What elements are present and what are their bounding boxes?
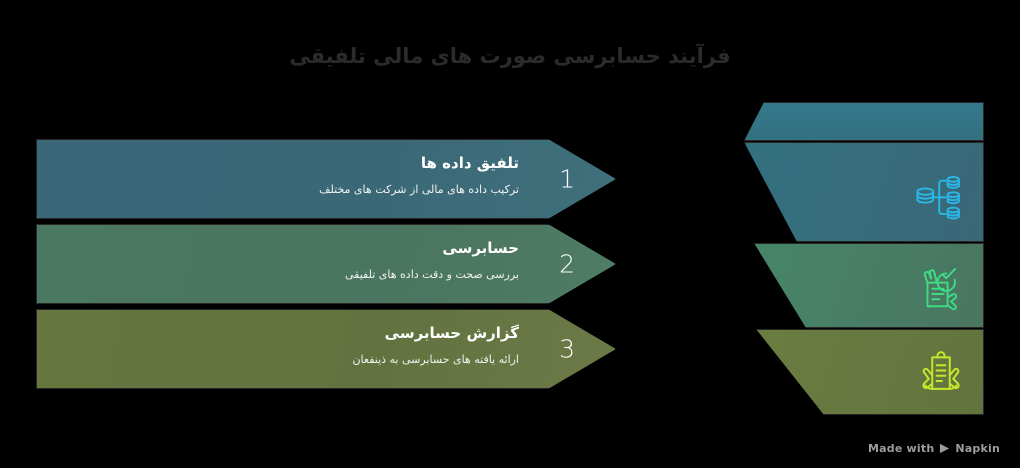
step-subtitle-2: بررسی صحت و دقت داده های تلفیقی — [99, 268, 519, 282]
step-title-2: حسابرسی — [99, 239, 519, 258]
document-review-check-icon — [913, 259, 969, 315]
process-steps-list: 1 تلفیق داده ها ترکیب داده های مالی از ش… — [36, 139, 616, 389]
play-triangle-icon — [939, 443, 950, 454]
funnel-band-3 — [744, 329, 984, 415]
funnel-band-1 — [744, 142, 984, 242]
watermark-text: Made with — [868, 442, 934, 455]
step-number-2: 2 — [559, 252, 575, 277]
step-subtitle-1: ترکیب داده های مالی از شرکت های مختلف — [99, 183, 519, 197]
step-text-block-3: گزارش حسابرسی ارائه یافته های حسابرسی به… — [99, 324, 519, 367]
database-consolidation-icon — [913, 168, 969, 224]
report-in-hands-icon — [913, 346, 969, 402]
step-number-3: 3 — [559, 337, 575, 362]
step-number-1: 1 — [559, 167, 575, 192]
process-step-3[interactable]: 3 گزارش حسابرسی ارائه یافته های حسابرسی … — [36, 309, 616, 389]
funnel-illustration — [744, 102, 984, 392]
process-step-1[interactable]: 1 تلفیق داده ها ترکیب داده های مالی از ش… — [36, 139, 616, 219]
funnel-band-2 — [744, 243, 984, 328]
step-text-block-2: حسابرسی بررسی صحت و دقت داده های تلفیقی — [99, 239, 519, 282]
watermark-brand: Napkin — [955, 442, 1000, 455]
napkin-watermark: Made with Napkin — [868, 442, 1000, 455]
step-title-3: گزارش حسابرسی — [99, 324, 519, 343]
process-step-2[interactable]: 2 حسابرسی بررسی صحت و دقت داده های تلفیق… — [36, 224, 616, 304]
step-title-1: تلفیق داده ها — [99, 154, 519, 173]
step-subtitle-3: ارائه یافته های حسابرسی به ذینفعان — [99, 353, 519, 367]
page-title: فرآیند حسابرسی صورت های مالی تلفیقی — [0, 44, 1020, 68]
funnel-band-cap — [744, 102, 984, 141]
step-text-block-1: تلفیق داده ها ترکیب داده های مالی از شرک… — [99, 154, 519, 197]
